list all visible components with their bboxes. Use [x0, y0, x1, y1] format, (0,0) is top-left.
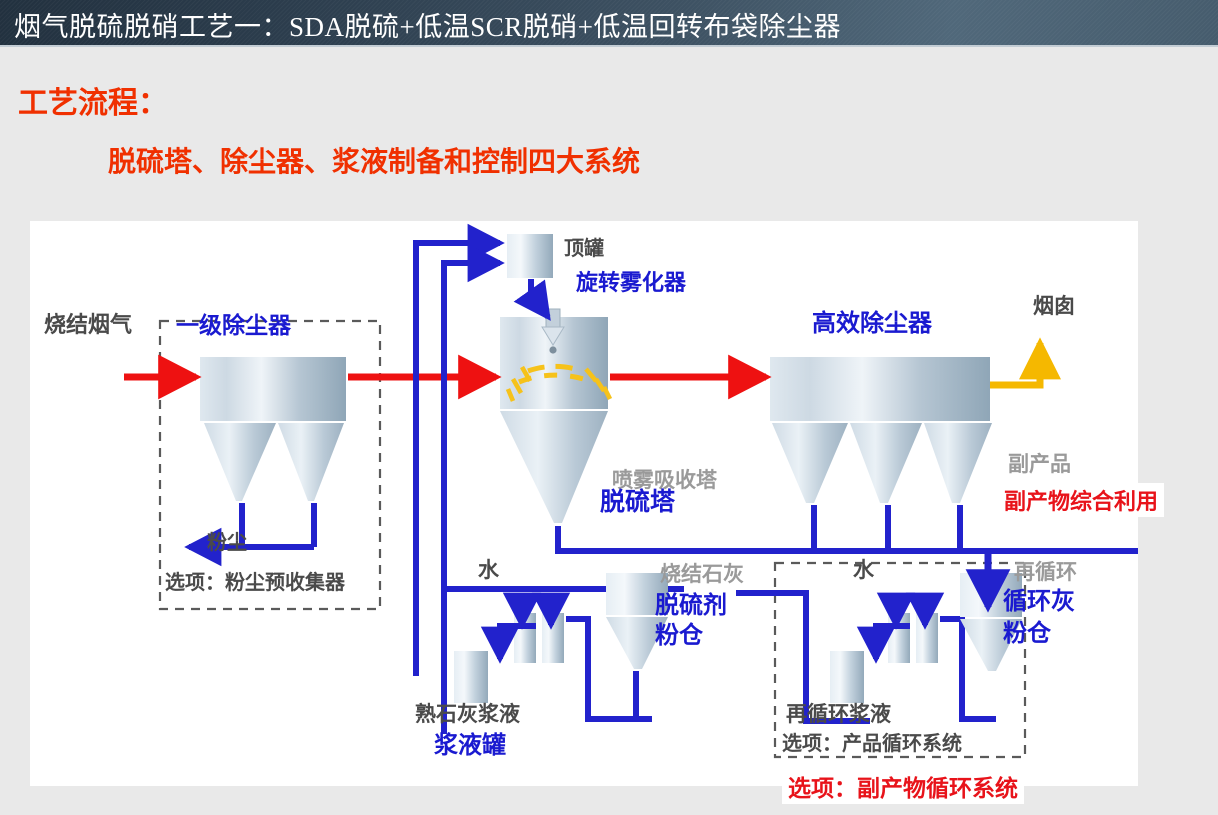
label-desulfurization-tower: 脱硫塔 [600, 489, 675, 515]
label-top-tank: 顶罐 [564, 239, 604, 260]
label-slurry-tank: 浆液罐 [434, 733, 506, 758]
process-flow-heading: 工艺流程： [18, 78, 168, 122]
label-inlet-gas: 烧结烟气 [44, 313, 132, 336]
label-recirculation-faded: 再循环 [1014, 561, 1077, 583]
title-underline [0, 45, 1218, 47]
slide-root: 烟气脱硫脱硝工艺一：SDA脱硫+低温SCR脱硝+低温回转布袋除尘器 工艺流程： … [0, 0, 1218, 815]
label-dust: 粉尘 [207, 533, 247, 554]
slide-title-bar: 烟气脱硫脱硝工艺一：SDA脱硫+低温SCR脱硝+低温回转布袋除尘器 [0, 0, 1218, 47]
label-high-eff-collector: 高效除尘器 [812, 311, 932, 336]
label-byproduct-utilization: 副产物综合利用 [998, 483, 1164, 517]
label-recirculated-slurry: 再循环浆液 [786, 703, 891, 725]
label-chimney: 烟囱 [1033, 295, 1075, 317]
label-desulfurizer-silo-line2: 粉仓 [655, 623, 703, 648]
label-option-byproduct-loop: 选项：副产物循环系统 [782, 768, 1024, 804]
label-ash-silo-line1: 循环灰 [1003, 589, 1075, 614]
slide-title: 烟气脱硫脱硝工艺一：SDA脱硫+低温SCR脱硝+低温回转布袋除尘器 [14, 5, 841, 44]
label-byproduct-faded: 副产品 [1008, 453, 1071, 475]
label-ash-silo-line2: 粉仓 [1003, 621, 1051, 646]
label-slaked-lime-slurry: 熟石灰浆液 [415, 703, 520, 725]
label-water-right: 水 [853, 559, 874, 581]
label-option-pre-collector: 选项：粉尘预收集器 [165, 573, 345, 594]
four-systems-heading: 脱硫塔、除尘器、浆液制备和控制四大系统 [108, 140, 640, 180]
label-desulfurizer-silo-line1: 脱硫剂 [655, 593, 727, 618]
label-rotary-atomizer: 旋转雾化器 [576, 271, 686, 294]
label-primary-collector: 一级除尘器 [176, 313, 291, 337]
label-option-product-loop: 选项：产品循环系统 [782, 734, 962, 755]
label-sintered-lime-faded: 烧结石灰 [660, 563, 744, 585]
process-flow-svg [30, 221, 1138, 786]
label-water-left: 水 [478, 559, 499, 581]
process-diagram-panel: 烧结烟气 一级除尘器 粉尘 选项：粉尘预收集器 顶罐 旋转雾化器 喷雾吸收塔 脱… [30, 221, 1138, 786]
